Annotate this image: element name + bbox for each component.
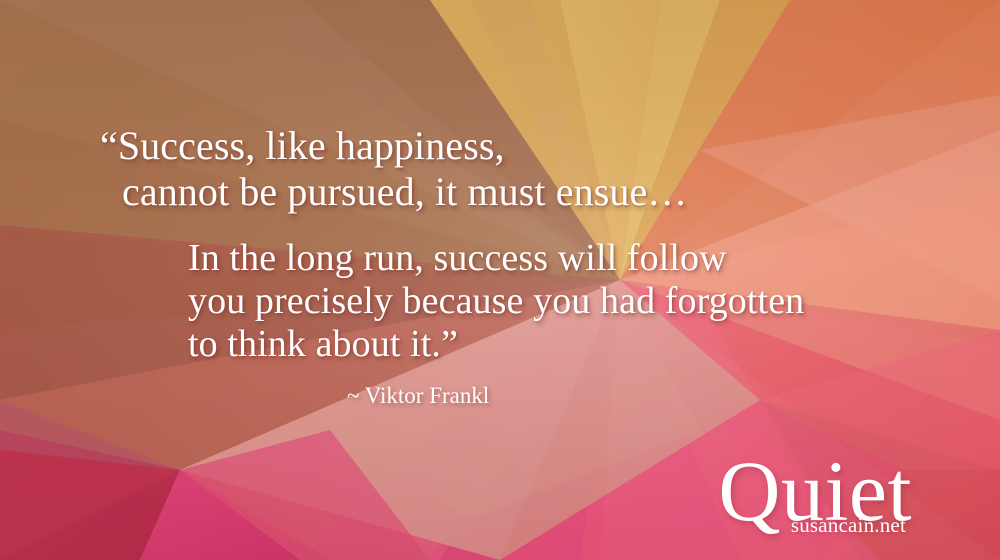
quote-card: “Success, like happiness, cannot be purs… (0, 0, 1000, 560)
quote-line-3: In the long run, success will follow (188, 236, 727, 280)
quote-attribution: ~ Viktor Frankl (347, 383, 489, 409)
logo-website-url[interactable]: susancain.net (718, 513, 906, 538)
quote-line-2: cannot be pursued, it must ensue… (122, 168, 687, 215)
quiet-logo[interactable]: Quiet susancain.net (718, 452, 912, 538)
quote-line-5: to think about it.” (188, 322, 458, 366)
quote-line-1: “Success, like happiness, (100, 122, 505, 169)
quote-line-4: you precisely because you had forgotten (188, 279, 804, 323)
